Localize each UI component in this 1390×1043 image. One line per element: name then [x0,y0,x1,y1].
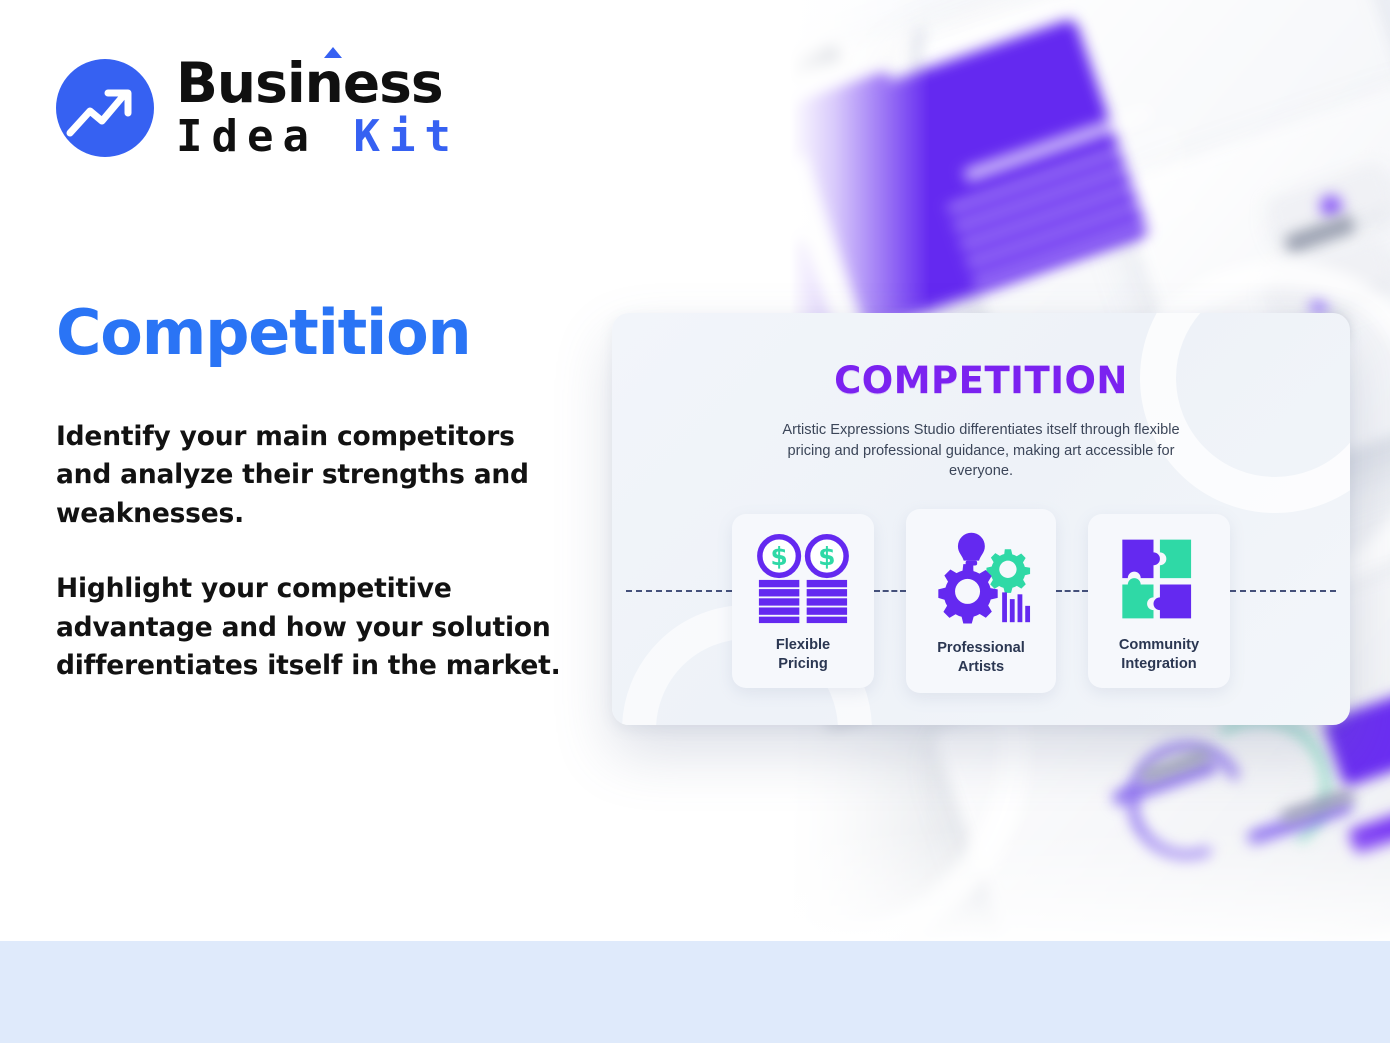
background-bottom-fade [790,830,1390,941]
connector-dashed-line [1056,590,1088,592]
body-paragraph-1: Identify your main competitors and analy… [56,418,576,533]
footer-bar [0,941,1390,1043]
body-paragraph-2: Highlight your competitive advantage and… [56,570,576,685]
pillar-professional-artists[interactable]: Professional Artists [906,509,1056,693]
circumflex-accent-icon [324,47,342,58]
puzzle-pieces-icon [1115,530,1203,628]
brand-wordmark: Business Idea Kit [176,56,460,159]
pillar-label: Flexible Pricing [776,636,830,674]
pillar-label-line1: Professional [937,640,1025,656]
page-title: Competition [56,296,470,369]
brand-logo: Business Idea Kit [56,56,460,159]
pillar-label-line2: Artists [958,659,1004,675]
preview-subtitle: Artistic Expressions Studio differentiat… [781,420,1181,482]
connector-dashed-line [874,590,906,592]
brand-name-idea: Idea [176,111,353,162]
pillars-row: $ $ [652,509,1310,693]
brand-name-line1-text: Business [176,51,443,115]
preview-title: COMPETITION [652,359,1310,402]
pillar-label-line1: Community [1119,637,1199,653]
gears-lightbulb-chart-icon [927,523,1035,631]
svg-text:$: $ [818,542,835,571]
connector-dashed-line [626,590,732,592]
pillar-community-integration[interactable]: Community Integration [1088,514,1230,688]
connector-dashed-line [1230,590,1336,592]
brand-name-line2: Idea Kit [176,115,460,159]
growth-arrow-icon [56,59,154,157]
brand-name-line1: Business [176,56,460,111]
pillar-label-line2: Integration [1121,656,1196,672]
pillar-label-line2: Pricing [778,656,827,672]
bg-dot [1320,195,1342,217]
pillar-label: Community Integration [1119,636,1199,674]
coin-stacks-icon: $ $ [755,530,851,628]
svg-text:$: $ [770,542,787,571]
pillar-label-line1: Flexible [776,637,830,653]
brand-name-kit: Kit [353,111,459,162]
pillar-flexible-pricing[interactable]: $ $ [732,514,874,688]
slide-preview-card[interactable]: COMPETITION Artistic Expressions Studio … [612,313,1350,725]
body-copy: Identify your main competitors and analy… [56,418,576,686]
slide-canvas: Business Idea Kit Competition Identify y… [0,0,1390,1043]
pillar-label: Professional Artists [937,639,1025,677]
